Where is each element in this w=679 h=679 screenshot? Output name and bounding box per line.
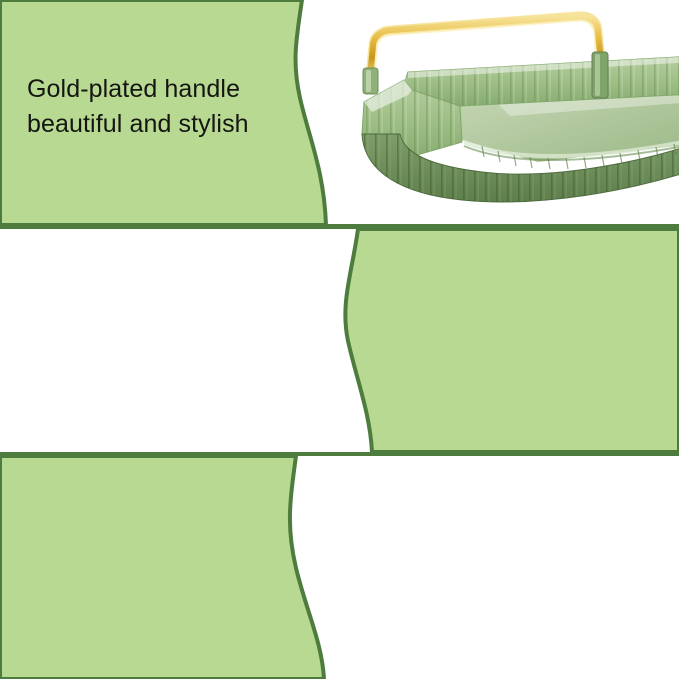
feature-panel-3: Open U-shape design easy to pick up: [0, 456, 679, 679]
product-infographic: Gold-plated handle beautiful and stylish: [0, 0, 679, 679]
product-image-handle-closeup: [342, 0, 679, 225]
panel-2-wave-background: [0, 229, 679, 452]
panel-3-wave-background: [0, 456, 679, 679]
feature-panel-2: Smooth edges to prtect your hands: [0, 229, 679, 452]
panel-1-caption: Gold-plated handle beautiful and stylish: [27, 72, 249, 142]
feature-panel-1: Gold-plated handle beautiful and stylish: [0, 0, 679, 225]
